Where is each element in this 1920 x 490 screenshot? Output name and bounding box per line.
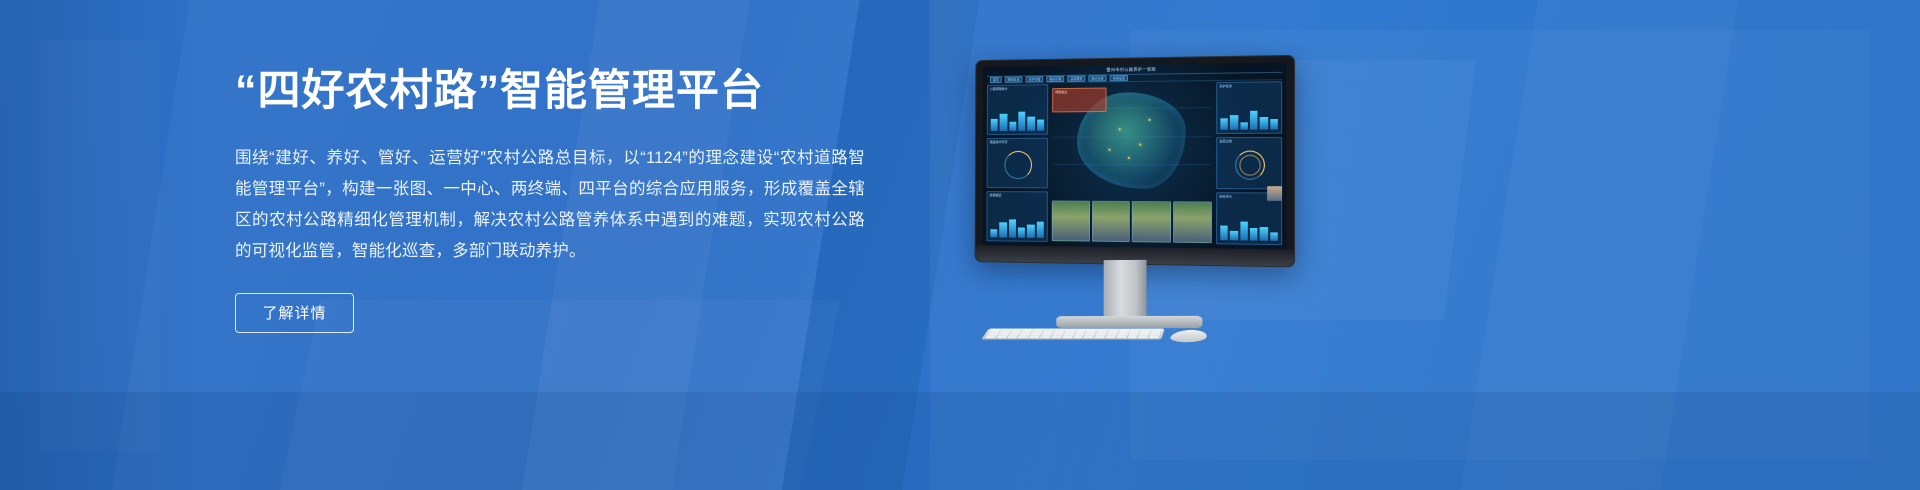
hero-copy: “四好农村路”智能管理平台 围绕“建好、养好、管好、运营好”农村公路总目标，以“… bbox=[235, 66, 875, 333]
card-label: 巡查记录 bbox=[1219, 139, 1232, 143]
dashboard-card-left-0[interactable]: 公路里程统计 bbox=[987, 84, 1048, 135]
bar-chart bbox=[991, 110, 1044, 130]
monitor-screen: 雷州市村公路养护一张图 首页 路网总览 养护管理 路政管理 运营服务 统计分析 … bbox=[975, 55, 1295, 268]
dashboard: 雷州市村公路养护一张图 首页 路网总览 养护管理 路政管理 运营服务 统计分析 … bbox=[982, 62, 1286, 249]
topbar-item-5[interactable]: 统计分析 bbox=[1088, 75, 1106, 81]
keyboard bbox=[981, 328, 1165, 339]
dashboard-card-right-0[interactable]: 养护任务 bbox=[1216, 81, 1282, 134]
monitor-stand-neck bbox=[1104, 260, 1147, 322]
page-title: “四好农村路”智能管理平台 bbox=[235, 66, 875, 117]
mouse bbox=[1168, 330, 1209, 342]
camera-thumb-1 bbox=[1091, 201, 1129, 242]
camera-thumbnail-strip[interactable] bbox=[1052, 201, 1212, 244]
camera-thumb-3 bbox=[1173, 201, 1212, 243]
topbar-item-2[interactable]: 养护管理 bbox=[1025, 76, 1043, 82]
keyboard-keys bbox=[985, 330, 1162, 339]
alert-panel[interactable]: 预警信息 bbox=[1052, 88, 1106, 113]
dashboard-left-column: 公路里程统计 路面技术状况 桥梁隧道 bbox=[986, 84, 1048, 242]
topbar-item-3[interactable]: 路政管理 bbox=[1046, 76, 1064, 82]
topbar-item-4[interactable]: 运营服务 bbox=[1067, 76, 1085, 82]
card-label: 桥梁隧道 bbox=[990, 193, 1002, 197]
score-ring-inner bbox=[1239, 155, 1260, 176]
monitor-stand-foot bbox=[1056, 316, 1202, 328]
camera-thumb-0 bbox=[1052, 201, 1090, 242]
gauge-ring bbox=[1004, 151, 1032, 179]
card-label: 综合评分 bbox=[1219, 194, 1232, 198]
alert-label: 预警信息 bbox=[1055, 90, 1067, 94]
bg-footer-band bbox=[0, 392, 1920, 490]
hero-banner: “四好农村路”智能管理平台 围绕“建好、养好、管好、运营好”农村公路总目标，以“… bbox=[0, 0, 1920, 490]
topbar-item-1[interactable]: 路网总览 bbox=[1005, 76, 1023, 82]
camera-thumb-2 bbox=[1132, 201, 1171, 243]
topbar-item-6[interactable]: 系统设置 bbox=[1110, 75, 1128, 81]
card-label: 路面技术状况 bbox=[990, 140, 1008, 144]
bar-chart bbox=[1220, 109, 1277, 130]
bar-chart bbox=[1220, 219, 1278, 241]
bg-panel-left-inner bbox=[40, 40, 160, 450]
topbar-item-0[interactable]: 首页 bbox=[990, 77, 1002, 83]
card-label: 公路里程统计 bbox=[990, 87, 1008, 91]
screen-content: 雷州市村公路养护一张图 首页 路网总览 养护管理 路政管理 运营服务 统计分析 … bbox=[982, 62, 1286, 249]
desktop-computer-illustration: 雷州市村公路养护一张图 首页 路网总览 养护管理 路政管理 运营服务 统计分析 … bbox=[975, 48, 1295, 358]
avatar bbox=[1267, 186, 1282, 201]
dashboard-card-left-2[interactable]: 桥梁隧道 bbox=[986, 191, 1047, 242]
hero-description: 围绕“建好、养好、管好、运营好”农村公路总目标，以“1124”的理念建设“农村道… bbox=[235, 143, 865, 267]
dashboard-card-left-1[interactable]: 路面技术状况 bbox=[987, 138, 1048, 189]
card-label: 养护任务 bbox=[1219, 84, 1232, 88]
bg-panel-left bbox=[0, 0, 200, 490]
dashboard-card-right-1[interactable]: 巡查记录 bbox=[1216, 137, 1282, 190]
bg-diagonal-5 bbox=[1456, 0, 1745, 490]
dashboard-right-column: 养护任务 巡查记录 综合评分 bbox=[1216, 81, 1282, 245]
learn-more-button[interactable]: 了解详情 bbox=[235, 293, 354, 333]
bar-chart bbox=[990, 217, 1043, 238]
